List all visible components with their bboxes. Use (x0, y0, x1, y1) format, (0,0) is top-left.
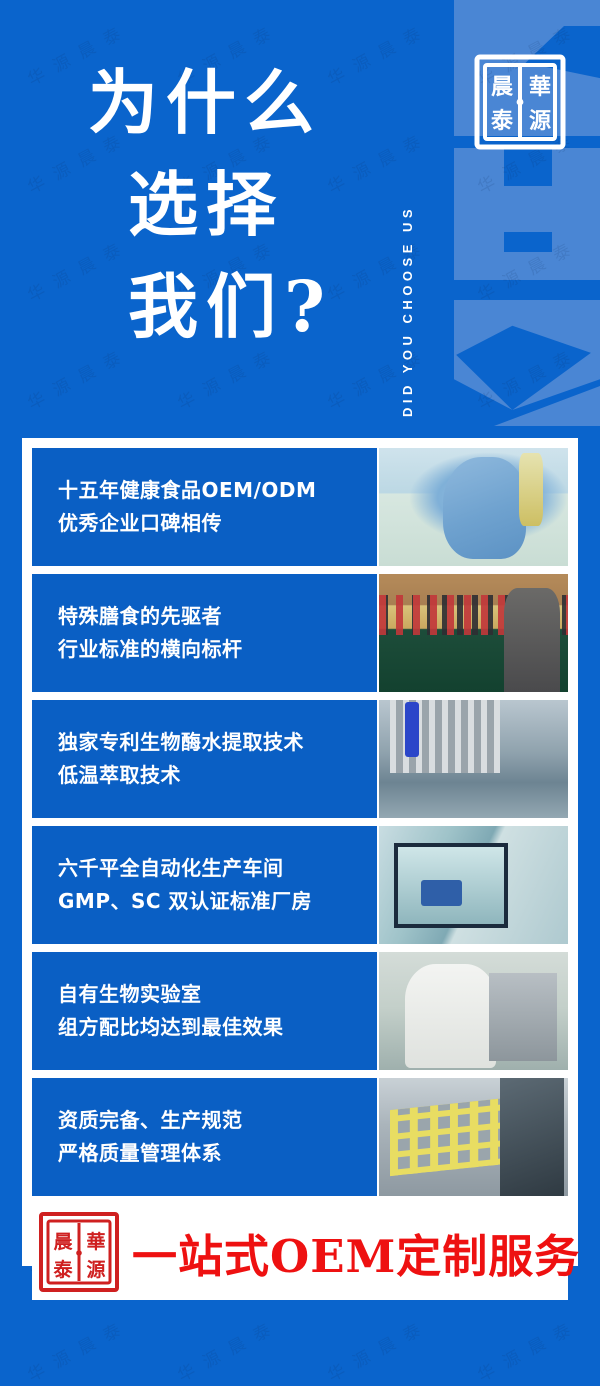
title-line-1: 为什么 (88, 52, 333, 154)
title-line-2: 选择 (128, 154, 333, 256)
card-text-block: 特殊膳食的先驱者 行业标准的横向标杆 (32, 574, 377, 692)
card-line-2: 低温萃取技术 (58, 762, 377, 789)
advantage-card[interactable]: 自有生物实验室 组方配比均达到最佳效果 (32, 952, 568, 1070)
svg-text:源: 源 (529, 108, 551, 134)
card-photo (379, 574, 568, 692)
svg-text:華: 華 (86, 1230, 105, 1253)
card-photo (379, 448, 568, 566)
card-line-1: 特殊膳食的先驱者 (58, 603, 377, 630)
company-seal-red-icon: 晨 泰 華 源 (38, 1211, 120, 1293)
card-line-1: 资质完备、生产规范 (58, 1107, 377, 1134)
poster-header: 为什么 选择 我们? DID YOU CHOOSE US 晨 泰 華 源 (0, 0, 600, 440)
watermark-text: 华 源 晨 泰 (173, 1314, 278, 1385)
svg-text:晨: 晨 (491, 74, 514, 100)
svg-text:華: 華 (529, 74, 551, 100)
content-frame: 十五年健康食品OEM/ODM 优秀企业口碑相传 特殊膳食的先驱者 行业标准的横向… (22, 438, 578, 1266)
card-line-1: 十五年健康食品OEM/ODM (58, 477, 377, 504)
card-line-1: 自有生物实验室 (58, 981, 377, 1008)
advantage-card[interactable]: 特殊膳食的先驱者 行业标准的横向标杆 (32, 574, 568, 692)
card-line-1: 独家专利生物酶水提取技术 (58, 729, 377, 756)
card-text-block: 资质完备、生产规范 严格质量管理体系 (32, 1078, 377, 1196)
svg-text:泰: 泰 (52, 1258, 73, 1281)
card-text-block: 六千平全自动化生产车间 GMP、SC 双认证标准厂房 (32, 826, 377, 944)
advantage-card[interactable]: 十五年健康食品OEM/ODM 优秀企业口碑相传 (32, 448, 568, 566)
card-line-2: 行业标准的横向标杆 (58, 636, 377, 663)
card-text-block: 自有生物实验室 组方配比均达到最佳效果 (32, 952, 377, 1070)
svg-text:晨: 晨 (53, 1231, 73, 1253)
card-line-2: 组方配比均达到最佳效果 (58, 1014, 377, 1041)
watermark-text: 华 源 晨 泰 (23, 1314, 128, 1385)
footer-slogan: 一站式OEM定制服务 (132, 1220, 580, 1285)
svg-text:源: 源 (86, 1258, 105, 1281)
vertical-tagline: DID YOU CHOOSE US (400, 22, 426, 417)
advantage-card[interactable]: 独家专利生物酶水提取技术 低温萃取技术 (32, 700, 568, 818)
card-text-block: 独家专利生物酶水提取技术 低温萃取技术 (32, 700, 377, 818)
advantage-card-list: 十五年健康食品OEM/ODM 优秀企业口碑相传 特殊膳食的先驱者 行业标准的横向… (32, 448, 568, 1196)
card-photo (379, 826, 568, 944)
card-line-2: 优秀企业口碑相传 (58, 510, 377, 537)
card-photo (379, 700, 568, 818)
footer-slogan-bar: 晨 泰 華 源 一站式OEM定制服务 (32, 1204, 568, 1300)
card-photo (379, 952, 568, 1070)
card-photo (379, 1078, 568, 1196)
title-line-3: 我们? (128, 256, 333, 358)
svg-text:泰: 泰 (490, 108, 514, 134)
card-text-block: 十五年健康食品OEM/ODM 优秀企业口碑相传 (32, 448, 377, 566)
card-line-2: 严格质量管理体系 (58, 1140, 377, 1167)
card-line-1: 六千平全自动化生产车间 (58, 855, 377, 882)
page-title: 为什么 选择 我们? (88, 52, 333, 358)
company-seal-white-icon: 晨 泰 華 源 (473, 52, 567, 152)
watermark-text: 华 源 晨 泰 (473, 1314, 578, 1385)
advantage-card[interactable]: 资质完备、生产规范 严格质量管理体系 (32, 1078, 568, 1196)
advantage-card[interactable]: 六千平全自动化生产车间 GMP、SC 双认证标准厂房 (32, 826, 568, 944)
card-line-2: GMP、SC 双认证标准厂房 (58, 888, 377, 915)
watermark-text: 华 源 晨 泰 (323, 1314, 428, 1385)
